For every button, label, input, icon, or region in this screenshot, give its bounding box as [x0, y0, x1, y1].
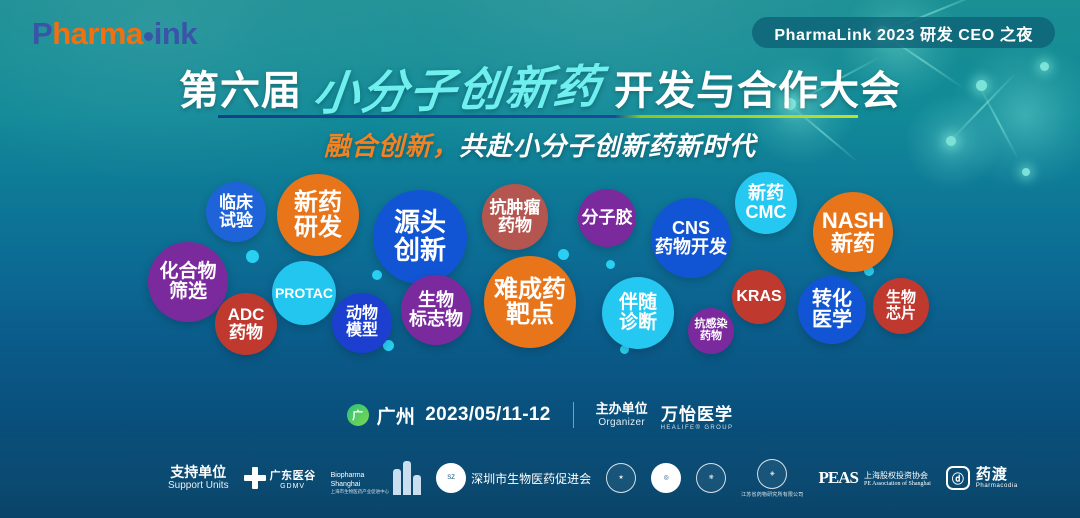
topic-bubble-label: 试验	[219, 212, 253, 230]
organizer-label-en: Organizer	[596, 417, 648, 429]
topic-bubble-label: 转化	[812, 289, 852, 310]
topic-bubble-label: CNS	[672, 219, 710, 238]
subtitle-orange: 融合创新，	[324, 131, 459, 161]
topic-bubble-label: NASH	[822, 209, 884, 232]
topic-bubble-label: 临床	[219, 194, 253, 212]
decorative-dot	[606, 260, 615, 269]
city-initial: 广	[352, 407, 363, 423]
jiangsu-caption: 江苏省药物研究所有限公司	[741, 491, 803, 498]
topic-bubble[interactable]: PROTAC	[272, 261, 336, 325]
topic-bubble[interactable]: 分子胶	[578, 189, 636, 247]
organizer-name-cn: 万怡医学	[661, 400, 734, 425]
topic-bubble-label: 源头	[394, 209, 446, 237]
support-logo-jiangsu-institute: ◈ 江苏省药物研究所有限公司	[741, 459, 803, 498]
topic-bubble[interactable]: 生物芯片	[873, 278, 929, 334]
city-badge-icon: 广	[347, 404, 369, 426]
event-city: 广州	[377, 402, 416, 429]
topic-bubble[interactable]: 难成药靶点	[484, 256, 576, 348]
topic-bubble-label: 分子胶	[582, 209, 633, 227]
support-seal-icon-3: ❋	[696, 463, 726, 493]
title-highlight: 小分子创新药	[304, 50, 613, 124]
support-logo-shenzhen-bio: SZ 深圳市生物医药促进会	[436, 463, 591, 493]
topic-bubble-label: 抗肿瘤	[490, 199, 541, 217]
topic-bubble-label: 伴随	[619, 293, 657, 313]
topic-bubble[interactable]: KRAS	[732, 270, 786, 324]
jiangsu-seal-icon: ◈	[757, 459, 787, 489]
poster-root: Pharmaink PharmaLink 2023 研发 CEO 之夜 第六届 …	[0, 0, 1080, 518]
topic-bubble-label: 药物	[229, 324, 263, 342]
logo-ink: ink	[154, 16, 197, 51]
topic-bubble-label: 筛选	[169, 282, 207, 302]
biopharma-bars-icon	[393, 461, 421, 495]
topic-bubble[interactable]: 新药研发	[277, 174, 359, 256]
support-logo-biopharma-shanghai: Biopharma Shanghai 上海市生物医药产业促进中心	[331, 461, 422, 495]
pharmacodia-name-cn: 药渡	[976, 467, 1018, 484]
logo-dot-icon	[144, 32, 153, 41]
decorative-dot	[372, 270, 382, 280]
organizer-label-cn: 主办单位	[596, 401, 648, 416]
logo-p: P	[32, 16, 52, 51]
topic-bubble-label: 研发	[294, 215, 342, 240]
support-logo-gdmv: 广东医谷 GDMV	[244, 467, 316, 490]
gdmv-name-cn: 广东医谷	[270, 467, 316, 483]
topic-bubble[interactable]: 抗感染药物	[688, 308, 734, 354]
topic-bubble[interactable]: NASH新药	[813, 192, 893, 272]
logo-harma: harma	[52, 16, 143, 51]
topic-bubble-cluster: 临床试验化合物筛选ADC药物新药研发PROTAC动物模型源头创新生物标志物抗肿瘤…	[0, 160, 1080, 375]
topic-bubble-label: 难成药	[494, 277, 566, 302]
shenzhen-seal-icon: SZ	[436, 463, 466, 493]
topic-bubble-label: CMC	[746, 203, 787, 222]
subtitle: 融合创新，共赴小分子创新药新时代	[0, 126, 1080, 163]
topic-bubble-label: 创新	[394, 237, 446, 265]
topic-bubble[interactable]: 动物模型	[332, 293, 392, 353]
topic-bubble[interactable]: 临床试验	[206, 182, 266, 242]
organizer-name-en: HEALIFE® GROUP	[661, 425, 734, 431]
support-logo-pharmacodia: ⓓ 药渡 Pharmacodia	[946, 466, 1018, 490]
biopharma-caption: 上海市生物医药产业促进中心	[331, 489, 390, 495]
support-seal-icon-1: ★	[606, 463, 636, 493]
shenzhen-name-cn: 深圳市生物医药促进会	[471, 470, 591, 487]
topic-bubble-label: ADC	[228, 306, 265, 324]
decorative-dot	[246, 250, 259, 263]
topic-bubble[interactable]: 化合物筛选	[148, 242, 228, 322]
support-label: 支持单位 Support Units	[168, 464, 229, 492]
topic-bubble[interactable]: 新药CMC	[735, 172, 797, 234]
info-divider	[573, 402, 574, 428]
peas-mark: PEAS	[819, 468, 858, 488]
title-underline	[218, 115, 858, 118]
title-prefix: 第六届	[179, 58, 302, 116]
pharmacodia-name-en: Pharmacodia	[976, 483, 1018, 489]
event-banner-pill: PharmaLink 2023 研发 CEO 之夜	[752, 17, 1055, 48]
topic-bubble-label: 生物	[418, 291, 454, 310]
support-seal-icon-2: ◎	[651, 463, 681, 493]
peas-name-cn: 上海股权投资协会	[864, 470, 931, 481]
event-info-bar: 广 广州 2023/05/11-12 主办单位 Organizer 万怡医学 H…	[0, 392, 1080, 438]
support-units-strip: 支持单位 Support Units 广东医谷 GDMV Biopharma S…	[0, 438, 1080, 518]
topic-bubble-label: KRAS	[736, 289, 781, 306]
topic-bubble[interactable]: 抗肿瘤药物	[482, 184, 548, 250]
subtitle-white: 共赴小分子创新药新时代	[459, 131, 756, 161]
topic-bubble[interactable]: 源头创新	[373, 190, 467, 284]
topic-bubble[interactable]: CNS药物开发	[651, 198, 731, 278]
main-title: 第六届 小分子创新药 开发与合作大会	[0, 58, 1080, 116]
topic-bubble[interactable]: 生物标志物	[401, 275, 471, 345]
pharmacodia-ring-icon: ⓓ	[946, 466, 970, 490]
organizer-logo: 万怡医学 HEALIFE® GROUP	[661, 400, 734, 431]
topic-bubble-label: 靶点	[506, 302, 554, 327]
biopharma-name-cn: Biopharma	[331, 472, 390, 481]
support-logo-peas: PEAS 上海股权投资协会 PE Association of Shanghai	[819, 468, 931, 488]
topic-bubble[interactable]: 转化医学	[798, 276, 866, 344]
topic-bubble-label: 新药	[831, 232, 875, 255]
organizer-label: 主办单位 Organizer	[596, 401, 648, 429]
event-date: 2023/05/11-12	[425, 404, 550, 426]
event-banner-text: PharmaLink 2023 研发 CEO 之夜	[774, 21, 1033, 45]
topic-bubble-label: 药物	[700, 331, 722, 343]
topic-bubble[interactable]: ADC药物	[215, 293, 277, 355]
topic-bubble-label: 新药	[294, 190, 342, 215]
gdmv-name-en: GDMV	[270, 483, 316, 490]
topic-bubble-label: 药物开发	[655, 238, 727, 257]
topic-bubble-label: 模型	[346, 323, 378, 340]
topic-bubble-label: 生物	[886, 290, 916, 306]
support-label-en: Support Units	[168, 480, 229, 492]
topic-bubble-label: 药物	[498, 217, 532, 235]
topic-bubble-label: 新药	[748, 184, 784, 203]
topic-bubble[interactable]: 伴随诊断	[602, 277, 674, 349]
topic-bubble-label: 医学	[812, 310, 852, 331]
peas-name-en: PE Association of Shanghai	[864, 481, 931, 487]
topic-bubble-label: 化合物	[159, 262, 216, 282]
topic-bubble-label: 芯片	[886, 306, 916, 322]
topic-bubble-label: 动物	[346, 306, 378, 323]
medical-cross-icon	[244, 467, 266, 489]
decorative-dot	[558, 249, 569, 260]
topic-bubble-label: 标志物	[409, 310, 463, 329]
topic-bubble-label: 诊断	[619, 313, 657, 333]
support-label-cn: 支持单位	[170, 464, 226, 480]
topic-bubble-label: PROTAC	[275, 286, 333, 301]
pharmalink-logo: Pharmaink	[32, 18, 197, 49]
title-suffix: 开发与合作大会	[614, 58, 901, 116]
